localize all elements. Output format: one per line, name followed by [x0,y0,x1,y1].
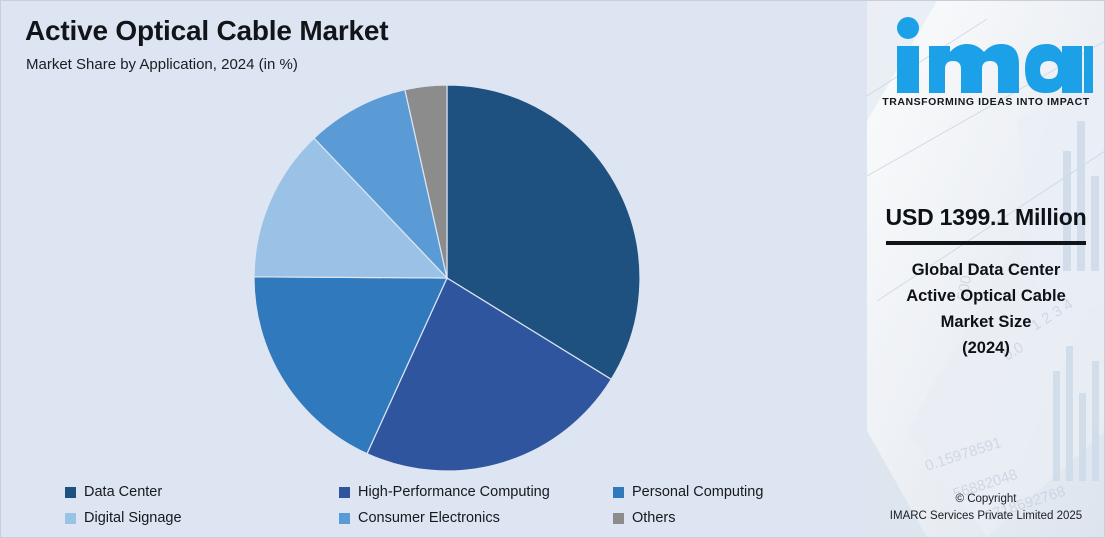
pie-chart [253,84,641,472]
legend-item-high-performance-computing[interactable]: High-Performance Computing [339,484,613,500]
legend-item-data-center[interactable]: Data Center [65,484,339,500]
copyright-line-2: IMARC Services Private Limited 2025 [867,508,1105,525]
market-description-line-3: Market Size [867,309,1105,335]
market-value: USD 1399.1 Million [867,204,1105,231]
legend-swatch-consumer-electronics [339,513,350,524]
market-description-line-2: Active Optical Cable [867,283,1105,309]
legend-label-data-center: Data Center [84,484,162,500]
legend-item-personal-computing[interactable]: Personal Computing [613,484,853,500]
legend-item-digital-signage[interactable]: Digital Signage [65,510,339,526]
brand-panel: 1 2 3 4 0.0 500 0.15978591 56882048 0718… [867,1,1105,537]
pie-slice-group [254,85,640,471]
imarc-logo-icon [879,15,1093,93]
legend-label-personal-computing: Personal Computing [632,484,763,500]
copyright-line-1: © Copyright [867,491,1105,508]
market-description: Global Data Center Active Optical Cable … [867,257,1105,361]
legend-swatch-others [613,513,624,524]
page-title: Active Optical Cable Market [25,15,388,47]
legend-label-others: Others [632,510,676,526]
legend-label-consumer-electronics: Consumer Electronics [358,510,500,526]
legend-swatch-digital-signage [65,513,76,524]
divider-rule [886,241,1086,245]
pie-chart-svg [253,84,641,472]
legend-swatch-data-center [65,487,76,498]
copyright-notice: © Copyright IMARC Services Private Limit… [867,491,1105,525]
market-description-line-4: (2024) [867,335,1105,361]
chart-legend: Data Center High-Performance Computing P… [65,479,855,531]
market-description-line-1: Global Data Center [867,257,1105,283]
legend-swatch-high-performance-computing [339,487,350,498]
chart-subtitle: Market Share by Application, 2024 (in %) [26,56,298,73]
legend-item-consumer-electronics[interactable]: Consumer Electronics [339,510,613,526]
brand-tagline: TRANSFORMING IDEAS INTO IMPACT [882,96,1089,108]
legend-label-digital-signage: Digital Signage [84,510,182,526]
legend-swatch-personal-computing [613,487,624,498]
imarc-logo: TRANSFORMING IDEAS INTO IMPACT [867,15,1105,108]
legend-label-high-performance-computing: High-Performance Computing [358,484,550,500]
chart-infographic-card: Active Optical Cable Market Market Share… [0,0,1105,538]
legend-item-others[interactable]: Others [613,510,853,526]
chart-panel: Active Optical Cable Market Market Share… [1,1,867,537]
